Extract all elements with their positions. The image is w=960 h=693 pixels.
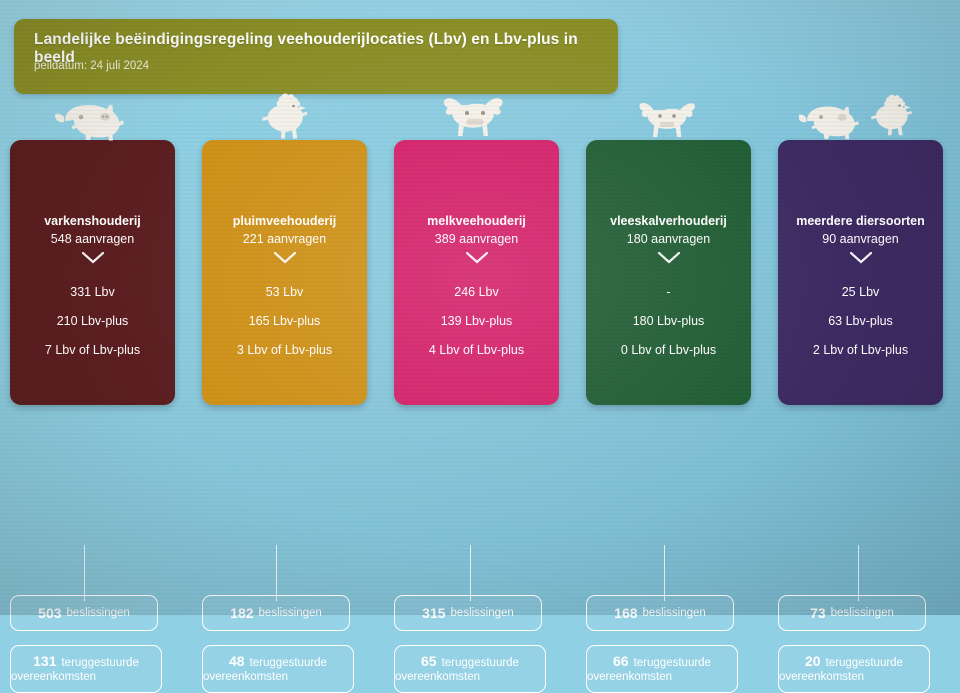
lbv-or-lbvplus-count: 2 Lbv of Lbv-plus xyxy=(778,343,943,357)
returned-count: 65 xyxy=(421,653,437,669)
sector-card[interactable]: varkenshouderij 548 aanvragen 331 Lbv 21… xyxy=(10,140,175,405)
chevron-down-icon xyxy=(202,252,367,264)
sector-name: melkveehouderij xyxy=(394,214,559,228)
decisions-pill: 182 beslissingen xyxy=(202,595,350,631)
sector-column: varkenshouderij 548 aanvragen 331 Lbv 21… xyxy=(10,140,175,405)
returned-agreements-pill: 66 teruggestuurde overeenkomsten xyxy=(586,645,738,693)
returned-count: 66 xyxy=(613,653,629,669)
decisions-count: 168 xyxy=(614,605,637,621)
decisions-count: 182 xyxy=(230,605,253,621)
lbv-count: 53 Lbv xyxy=(202,285,367,299)
decisions-pill: 73 beslissingen xyxy=(778,595,926,631)
returned-agreements-pill: 48 teruggestuurde overeenkomsten xyxy=(202,645,354,693)
sector-column: pluimveehouderij 221 aanvragen 53 Lbv 16… xyxy=(202,140,367,405)
connector-line xyxy=(858,545,859,601)
lbvplus-count: 210 Lbv-plus xyxy=(10,314,175,328)
returned-agreements-pill: 65 teruggestuurde overeenkomsten xyxy=(394,645,546,693)
returned-label: teruggestuurde xyxy=(442,657,519,669)
returned-label: teruggestuurde xyxy=(634,657,711,669)
applications-count: 221 aanvragen xyxy=(202,232,367,246)
sector-column: melkveehouderij 389 aanvragen 246 Lbv 13… xyxy=(394,140,559,405)
lbvplus-count: 165 Lbv-plus xyxy=(202,314,367,328)
chevron-down-icon xyxy=(778,252,943,264)
agreements-label: overeenkomsten xyxy=(395,671,545,683)
decisions-label: beslissingen xyxy=(451,607,514,619)
lbvplus-count: 180 Lbv-plus xyxy=(586,314,751,328)
applications-count: 389 aanvragen xyxy=(394,232,559,246)
header-banner: Landelijke beëindigingsregeling veehoude… xyxy=(14,19,618,94)
agreements-label: overeenkomsten xyxy=(587,671,737,683)
chevron-down-icon xyxy=(394,252,559,264)
returned-count: 48 xyxy=(229,653,245,669)
sector-card[interactable]: vleeskalverhouderij 180 aanvragen - 180 … xyxy=(586,140,751,405)
decisions-pill: 503 beslissingen xyxy=(10,595,158,631)
returned-count: 131 xyxy=(33,653,56,669)
sector-name: varkenshouderij xyxy=(10,214,175,228)
decisions-label: beslissingen xyxy=(831,607,894,619)
agreements-label: overeenkomsten xyxy=(779,671,929,683)
agreements-label: overeenkomsten xyxy=(203,671,353,683)
applications-count: 180 aanvragen xyxy=(586,232,751,246)
sector-card[interactable]: melkveehouderij 389 aanvragen 246 Lbv 13… xyxy=(394,140,559,405)
decisions-count: 315 xyxy=(422,605,445,621)
connector-line xyxy=(470,545,471,601)
sector-column: meerdere diersoorten 90 aanvragen 25 Lbv… xyxy=(778,140,943,405)
returned-agreements-pill: 20 teruggestuurde overeenkomsten xyxy=(778,645,930,693)
returned-count: 20 xyxy=(805,653,821,669)
lbv-or-lbvplus-count: 3 Lbv of Lbv-plus xyxy=(202,343,367,357)
lbv-count: 331 Lbv xyxy=(10,285,175,299)
connector-line xyxy=(664,545,665,601)
lbv-or-lbvplus-count: 0 Lbv of Lbv-plus xyxy=(586,343,751,357)
chevron-down-icon xyxy=(10,252,175,264)
decisions-count: 73 xyxy=(810,605,826,621)
connector-line xyxy=(276,545,277,601)
applications-count: 548 aanvragen xyxy=(10,232,175,246)
decisions-count: 503 xyxy=(38,605,61,621)
lbv-or-lbvplus-count: 7 Lbv of Lbv-plus xyxy=(10,343,175,357)
decisions-label: beslissingen xyxy=(67,607,130,619)
lbv-count: 246 Lbv xyxy=(394,285,559,299)
sector-name: meerdere diersoorten xyxy=(778,214,943,228)
sector-card[interactable]: pluimveehouderij 221 aanvragen 53 Lbv 16… xyxy=(202,140,367,405)
decisions-label: beslissingen xyxy=(259,607,322,619)
reference-date: peildatum: 24 juli 2024 xyxy=(34,60,149,72)
decisions-label: beslissingen xyxy=(643,607,706,619)
lbv-count: 25 Lbv xyxy=(778,285,943,299)
connector-line xyxy=(84,545,85,601)
lbvplus-count: 139 Lbv-plus xyxy=(394,314,559,328)
lbvplus-count: 63 Lbv-plus xyxy=(778,314,943,328)
agreements-label: overeenkomsten xyxy=(11,671,161,683)
applications-count: 90 aanvragen xyxy=(778,232,943,246)
chevron-down-icon xyxy=(586,252,751,264)
returned-agreements-pill: 131 teruggestuurde overeenkomsten xyxy=(10,645,162,693)
returned-label: teruggestuurde xyxy=(826,657,903,669)
decisions-pill: 168 beslissingen xyxy=(586,595,734,631)
sector-column: vleeskalverhouderij 180 aanvragen - 180 … xyxy=(586,140,751,405)
returned-label: teruggestuurde xyxy=(250,657,327,669)
lbv-or-lbvplus-count: 4 Lbv of Lbv-plus xyxy=(394,343,559,357)
sector-name: pluimveehouderij xyxy=(202,214,367,228)
returned-label: teruggestuurde xyxy=(61,657,138,669)
sector-name: vleeskalverhouderij xyxy=(586,214,751,228)
lbv-count: - xyxy=(586,285,751,299)
decisions-pill: 315 beslissingen xyxy=(394,595,542,631)
sector-card[interactable]: meerdere diersoorten 90 aanvragen 25 Lbv… xyxy=(778,140,943,405)
